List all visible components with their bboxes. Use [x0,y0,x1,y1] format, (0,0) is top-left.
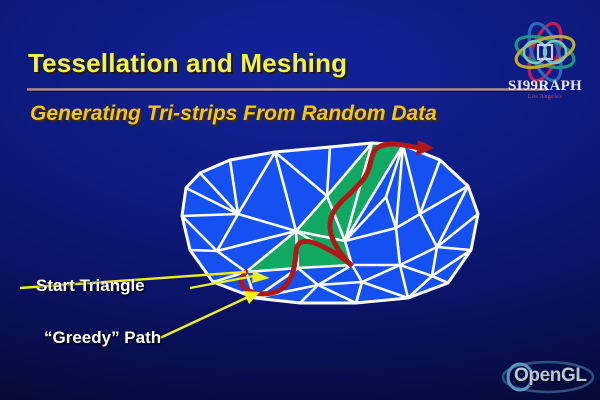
greedy-path-arrow-line [160,297,248,338]
opengl-wordmark: OpenGL [514,365,587,387]
slide-canvas: Tessellation and Meshing Generating Tri-… [0,0,600,400]
start-triangle-label: Start Triangle [36,276,145,296]
greedy-path-label: “Greedy” Path [44,328,161,348]
opengl-logo: OpenGL [500,360,596,394]
